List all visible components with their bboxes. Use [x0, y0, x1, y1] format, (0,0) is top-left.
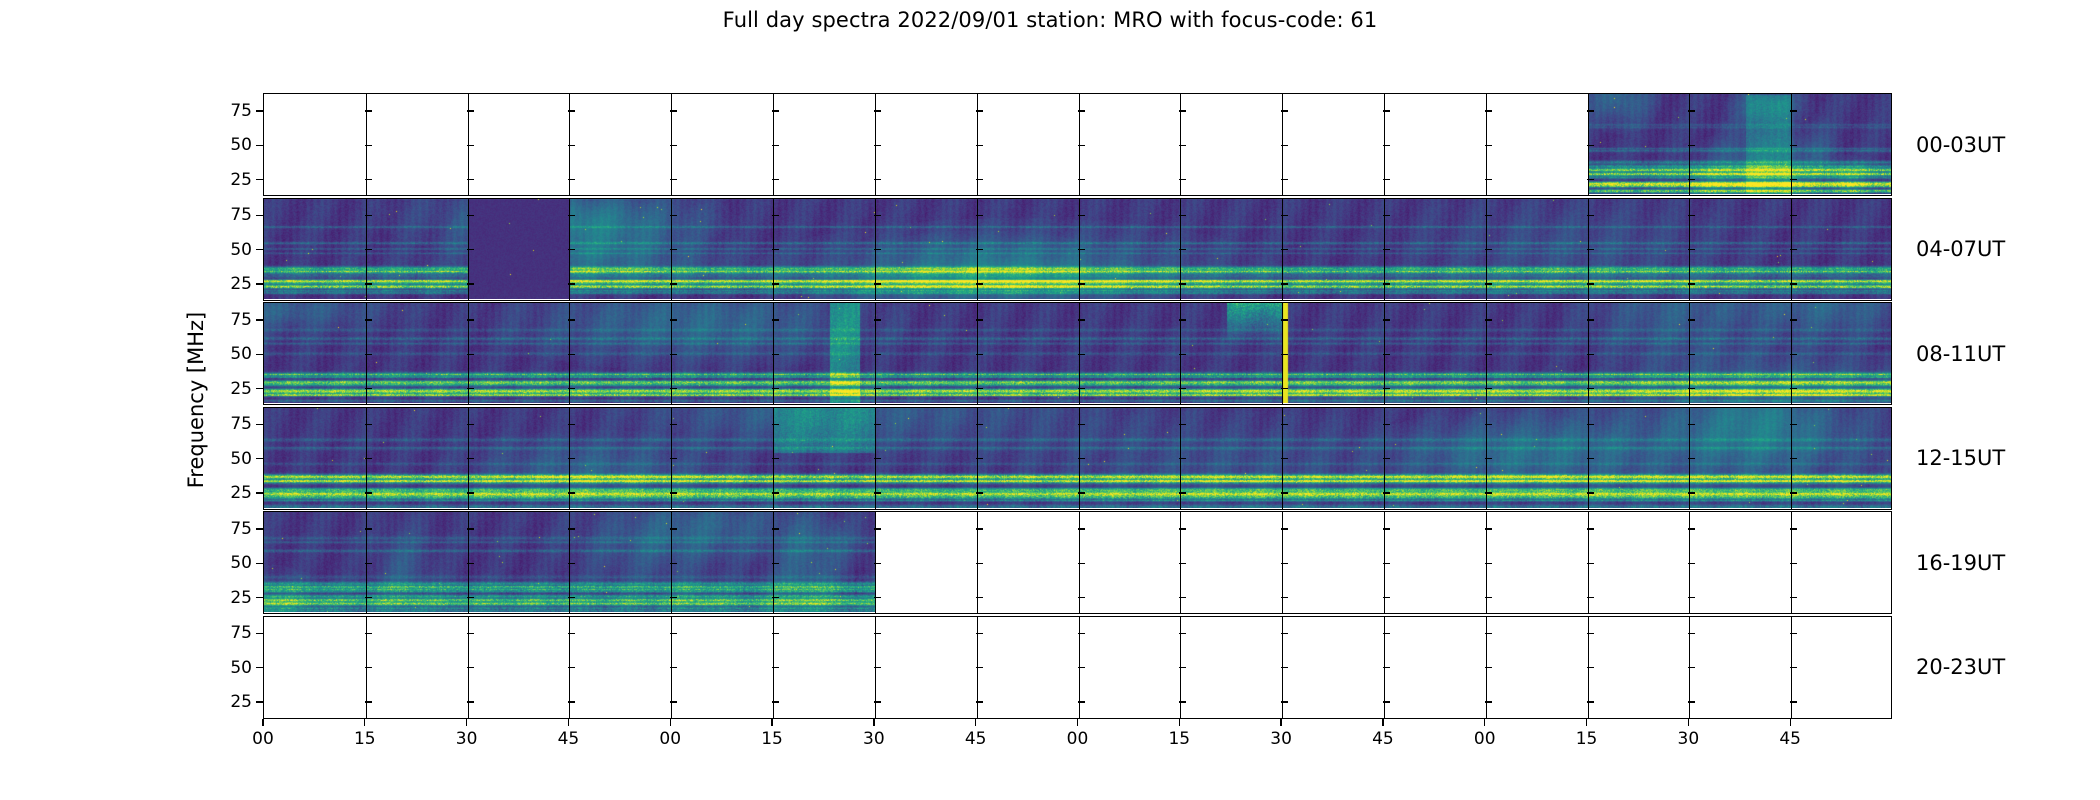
y-tick-mark-inner — [1078, 597, 1085, 598]
y-tick-mark-inner — [670, 492, 677, 493]
y-tick-mark-inner — [874, 701, 881, 702]
y-tick-mark-inner — [1281, 633, 1288, 634]
y-tick-mark-inner — [1179, 215, 1186, 216]
y-tick-mark-inner — [1790, 354, 1797, 355]
y-tick-mark-inner — [1179, 179, 1186, 180]
y-tick-mark-inner — [365, 249, 372, 250]
y-tick-mark-inner — [976, 110, 983, 111]
y-tick-mark-inner — [1485, 667, 1492, 668]
y-tick-mark-inner — [1179, 283, 1186, 284]
y-tick-mark-inner — [1383, 179, 1390, 180]
y-tick-mark-inner — [1078, 110, 1085, 111]
x-tick-label: 30 — [863, 729, 885, 749]
y-tick-mark-inner — [568, 633, 575, 634]
x-tick-mark — [1688, 719, 1689, 726]
y-tick-mark-inner — [568, 492, 575, 493]
y-tick-mark — [256, 492, 263, 493]
y-tick-mark-inner — [365, 283, 372, 284]
x-tick-label: 45 — [558, 729, 580, 749]
y-tick-mark-inner — [772, 319, 779, 320]
y-tick-mark-inner — [1281, 492, 1288, 493]
y-tick-mark-inner — [568, 110, 575, 111]
y-tick-mark-inner — [467, 458, 474, 459]
y-tick-mark-inner — [365, 424, 372, 425]
spectrogram-canvas — [1588, 94, 1892, 194]
y-tick-mark-inner — [467, 492, 474, 493]
y-tick-mark-inner — [874, 249, 881, 250]
y-tick-mark-inner — [1078, 528, 1085, 529]
y-tick-mark-inner — [670, 179, 677, 180]
y-tick-mark-inner — [1078, 492, 1085, 493]
y-tick-mark-inner — [1281, 458, 1288, 459]
y-tick-mark-inner — [670, 388, 677, 389]
y-tick-label: 25 — [230, 588, 252, 608]
y-tick-mark-inner — [1790, 145, 1797, 146]
y-tick-mark-inner — [1688, 597, 1695, 598]
y-tick-mark-inner — [1383, 597, 1390, 598]
y-tick-mark-inner — [1688, 145, 1695, 146]
y-tick-mark-inner — [976, 179, 983, 180]
y-tick-mark-inner — [976, 215, 983, 216]
y-tick-label: 75 — [230, 310, 252, 330]
y-tick-mark-inner — [1587, 283, 1594, 284]
y-tick-mark — [256, 319, 263, 320]
x-tick-label: 15 — [761, 729, 783, 749]
y-tick-mark-inner — [1587, 667, 1594, 668]
y-tick-mark-inner — [976, 667, 983, 668]
y-tick-mark-inner — [1485, 388, 1492, 389]
y-tick-mark-inner — [365, 633, 372, 634]
y-tick-label: 75 — [230, 414, 252, 434]
y-tick-mark-inner — [1281, 110, 1288, 111]
y-tick-mark-inner — [1485, 492, 1492, 493]
y-tick-mark-inner — [1281, 283, 1288, 284]
y-tick-mark-inner — [1179, 145, 1186, 146]
y-tick-label: 25 — [230, 274, 252, 294]
y-tick-mark-inner — [1587, 492, 1594, 493]
y-tick-mark-inner — [467, 667, 474, 668]
y-tick-mark-inner — [568, 283, 575, 284]
y-tick-mark-inner — [670, 145, 677, 146]
y-tick-mark-inner — [1587, 597, 1594, 598]
y-tick-mark-inner — [1281, 354, 1288, 355]
y-tick-mark-inner — [874, 145, 881, 146]
y-tick-mark-inner — [874, 215, 881, 216]
y-tick-mark — [256, 388, 263, 389]
y-tick-mark-inner — [772, 249, 779, 250]
y-tick-label: 75 — [230, 205, 252, 225]
x-tick-mark — [262, 719, 263, 726]
y-tick-mark-inner — [467, 633, 474, 634]
y-tick-mark-inner — [772, 597, 779, 598]
y-tick-mark-inner — [1485, 319, 1492, 320]
y-tick-mark-inner — [1790, 492, 1797, 493]
y-tick-mark-inner — [772, 179, 779, 180]
y-tick-mark-inner — [1485, 215, 1492, 216]
y-tick-mark-inner — [1688, 319, 1695, 320]
x-tick-label: 15 — [354, 729, 376, 749]
x-tick-mark — [1179, 719, 1180, 726]
y-tick-mark-inner — [1688, 492, 1695, 493]
y-tick-mark-inner — [365, 563, 372, 564]
y-tick-mark-inner — [1485, 458, 1492, 459]
y-tick-mark-inner — [874, 424, 881, 425]
y-tick-mark-inner — [1485, 424, 1492, 425]
y-tick-mark-inner — [772, 563, 779, 564]
y-tick-mark-inner — [1281, 563, 1288, 564]
y-tick-mark-inner — [1179, 597, 1186, 598]
y-tick-label: 25 — [230, 692, 252, 712]
y-tick-mark-inner — [568, 597, 575, 598]
y-tick-mark-inner — [1383, 388, 1390, 389]
y-tick-mark-inner — [1587, 354, 1594, 355]
y-tick-mark-inner — [1790, 249, 1797, 250]
y-tick-mark-inner — [568, 319, 575, 320]
y-tick-mark-inner — [1688, 458, 1695, 459]
y-tick-mark-inner — [1281, 388, 1288, 389]
y-tick-mark-inner — [1485, 528, 1492, 529]
y-tick-mark-inner — [772, 633, 779, 634]
y-tick-mark-inner — [1179, 424, 1186, 425]
y-tick-mark-inner — [874, 458, 881, 459]
y-tick-mark-inner — [1383, 110, 1390, 111]
y-tick-mark-inner — [467, 701, 474, 702]
y-tick-mark-inner — [976, 563, 983, 564]
x-tick-mark — [771, 719, 772, 726]
x-tick-label: 30 — [456, 729, 478, 749]
y-tick-mark-inner — [365, 597, 372, 598]
y-tick-mark-inner — [568, 424, 575, 425]
y-tick-mark-inner — [1383, 667, 1390, 668]
x-tick-label: 00 — [659, 729, 681, 749]
y-tick-mark-inner — [365, 528, 372, 529]
y-tick-mark-inner — [976, 249, 983, 250]
y-tick-mark-inner — [772, 667, 779, 668]
y-tick-mark — [256, 249, 263, 250]
y-tick-mark-inner — [670, 667, 677, 668]
spectrogram-figure: Full day spectra 2022/09/01 station: MRO… — [0, 0, 2100, 800]
y-tick-mark-inner — [1179, 633, 1186, 634]
y-tick-mark-inner — [1790, 633, 1797, 634]
y-tick-mark-inner — [1078, 701, 1085, 702]
y-tick-mark — [256, 354, 263, 355]
y-tick-mark-inner — [772, 701, 779, 702]
y-tick-mark-inner — [874, 319, 881, 320]
y-tick-mark — [256, 528, 263, 529]
y-tick-mark-inner — [874, 492, 881, 493]
y-tick-mark — [256, 424, 263, 425]
y-tick-mark-inner — [1587, 215, 1594, 216]
y-tick-mark-inner — [1587, 424, 1594, 425]
y-tick-mark-inner — [1383, 145, 1390, 146]
y-tick-mark-inner — [1688, 424, 1695, 425]
y-tick-mark-inner — [1790, 179, 1797, 180]
y-tick-mark — [256, 633, 263, 634]
y-tick-label: 50 — [230, 135, 252, 155]
page-title: Full day spectra 2022/09/01 station: MRO… — [0, 8, 2100, 32]
y-tick-mark — [256, 667, 263, 668]
y-tick-mark-inner — [1485, 179, 1492, 180]
y-tick-mark-inner — [1688, 528, 1695, 529]
y-tick-mark-inner — [568, 458, 575, 459]
y-tick-mark-inner — [1790, 667, 1797, 668]
y-tick-label: 50 — [230, 553, 252, 573]
y-tick-mark-inner — [1281, 597, 1288, 598]
y-tick-mark-inner — [467, 528, 474, 529]
y-tick-mark-inner — [670, 597, 677, 598]
y-tick-mark-inner — [467, 597, 474, 598]
y-tick-mark-inner — [467, 319, 474, 320]
y-tick-mark-inner — [976, 492, 983, 493]
y-tick-mark-inner — [1790, 528, 1797, 529]
y-tick-mark-inner — [1790, 110, 1797, 111]
y-tick-mark-inner — [365, 179, 372, 180]
y-tick-mark-inner — [874, 283, 881, 284]
y-tick-mark-inner — [670, 354, 677, 355]
x-tick-mark — [1382, 719, 1383, 726]
y-tick-mark-inner — [1587, 319, 1594, 320]
y-tick-label: 25 — [230, 379, 252, 399]
x-tick-mark — [1586, 719, 1587, 726]
x-tick-mark — [568, 719, 569, 726]
y-tick-mark-inner — [365, 215, 372, 216]
y-tick-mark — [256, 701, 263, 702]
y-tick-mark-inner — [1688, 179, 1695, 180]
y-tick-mark-inner — [772, 283, 779, 284]
y-tick-mark-inner — [670, 249, 677, 250]
y-tick-mark-inner — [1281, 145, 1288, 146]
y-tick-mark-inner — [365, 458, 372, 459]
y-tick-mark-inner — [874, 179, 881, 180]
y-tick-mark-inner — [874, 633, 881, 634]
y-tick-mark-inner — [670, 528, 677, 529]
y-tick-label: 25 — [230, 483, 252, 503]
y-tick-mark-inner — [1790, 283, 1797, 284]
y-tick-mark-inner — [1587, 249, 1594, 250]
y-tick-mark-inner — [365, 667, 372, 668]
y-tick-mark — [256, 145, 263, 146]
y-tick-mark-inner — [1790, 215, 1797, 216]
y-tick-mark-inner — [1078, 354, 1085, 355]
y-tick-mark-inner — [365, 354, 372, 355]
y-tick-mark — [256, 283, 263, 284]
y-tick-label: 75 — [230, 101, 252, 121]
y-tick-mark-inner — [1179, 701, 1186, 702]
y-tick-mark-inner — [1485, 701, 1492, 702]
y-tick-mark-inner — [976, 701, 983, 702]
y-tick-mark-inner — [1688, 249, 1695, 250]
y-tick-mark-inner — [1587, 633, 1594, 634]
row-label-08-11ut: 08-11UT — [1916, 342, 2005, 366]
y-tick-mark-inner — [976, 319, 983, 320]
y-tick-mark-inner — [670, 701, 677, 702]
y-tick-mark-inner — [874, 528, 881, 529]
y-tick-mark-inner — [568, 528, 575, 529]
y-tick-mark-inner — [1078, 319, 1085, 320]
y-tick-mark-inner — [1078, 145, 1085, 146]
y-tick-label: 75 — [230, 519, 252, 539]
y-tick-mark — [256, 597, 263, 598]
x-tick-mark — [1790, 719, 1791, 726]
y-tick-mark-inner — [1587, 145, 1594, 146]
x-tick-mark — [1077, 719, 1078, 726]
y-tick-mark-inner — [670, 319, 677, 320]
y-tick-mark-inner — [1281, 215, 1288, 216]
y-tick-mark-inner — [1587, 701, 1594, 702]
y-tick-mark-inner — [874, 354, 881, 355]
x-tick-mark — [975, 719, 976, 726]
x-tick-label: 45 — [965, 729, 987, 749]
y-tick-mark-inner — [1790, 424, 1797, 425]
y-axis-label: Frequency [MHz] — [184, 312, 208, 488]
y-tick-mark-inner — [1790, 597, 1797, 598]
y-tick-mark-inner — [1078, 249, 1085, 250]
y-tick-mark-inner — [568, 701, 575, 702]
y-tick-mark-inner — [1179, 319, 1186, 320]
y-tick-mark-inner — [1383, 492, 1390, 493]
row-label-20-23ut: 20-23UT — [1916, 655, 2005, 679]
y-tick-mark-inner — [1485, 597, 1492, 598]
y-tick-mark-inner — [1281, 319, 1288, 320]
y-tick-mark-inner — [568, 667, 575, 668]
y-tick-mark-inner — [1078, 388, 1085, 389]
y-tick-mark-inner — [1688, 110, 1695, 111]
y-tick-mark-inner — [1790, 701, 1797, 702]
y-tick-label: 75 — [230, 623, 252, 643]
y-tick-mark-inner — [670, 215, 677, 216]
row-label-00-03ut: 00-03UT — [1916, 133, 2005, 157]
y-tick-mark-inner — [976, 424, 983, 425]
y-tick-mark-inner — [1688, 215, 1695, 216]
y-tick-mark-inner — [1383, 354, 1390, 355]
x-tick-label: 00 — [252, 729, 274, 749]
y-tick-mark-inner — [1179, 667, 1186, 668]
y-tick-label: 50 — [230, 240, 252, 260]
y-tick-mark-inner — [1078, 667, 1085, 668]
y-tick-mark-inner — [874, 388, 881, 389]
y-tick-mark-inner — [874, 563, 881, 564]
y-tick-mark-inner — [1383, 249, 1390, 250]
y-tick-mark-inner — [568, 249, 575, 250]
y-tick-mark-inner — [1688, 633, 1695, 634]
y-tick-mark-inner — [670, 283, 677, 284]
y-tick-mark-inner — [1179, 388, 1186, 389]
y-tick-mark-inner — [874, 110, 881, 111]
y-tick-mark-inner — [1790, 458, 1797, 459]
y-tick-mark-inner — [467, 424, 474, 425]
y-tick-mark-inner — [772, 354, 779, 355]
y-tick-mark-inner — [568, 145, 575, 146]
x-tick-mark — [466, 719, 467, 726]
y-tick-mark-inner — [1485, 145, 1492, 146]
y-tick-mark-inner — [1078, 283, 1085, 284]
y-tick-mark-inner — [1179, 354, 1186, 355]
x-tick-mark — [1280, 719, 1281, 726]
y-tick-mark-inner — [568, 215, 575, 216]
y-tick-mark-inner — [976, 145, 983, 146]
y-tick-mark-inner — [1688, 354, 1695, 355]
row-label-04-07ut: 04-07UT — [1916, 237, 2005, 261]
x-tick-label: 30 — [1678, 729, 1700, 749]
y-tick-mark-inner — [1383, 701, 1390, 702]
y-tick-mark-inner — [1790, 388, 1797, 389]
y-tick-label: 50 — [230, 449, 252, 469]
y-tick-mark-inner — [1485, 249, 1492, 250]
x-tick-label: 00 — [1067, 729, 1089, 749]
x-tick-mark — [873, 719, 874, 726]
y-tick-mark-inner — [1078, 563, 1085, 564]
y-tick-mark-inner — [1587, 563, 1594, 564]
y-tick-mark-inner — [772, 424, 779, 425]
y-tick-mark-inner — [568, 563, 575, 564]
y-tick-mark-inner — [1179, 110, 1186, 111]
y-tick-mark-inner — [1485, 110, 1492, 111]
y-tick-mark-inner — [1688, 388, 1695, 389]
y-tick-mark-inner — [1281, 179, 1288, 180]
y-tick-mark — [256, 179, 263, 180]
y-tick-mark-inner — [1383, 424, 1390, 425]
y-tick-mark-inner — [1587, 179, 1594, 180]
x-tick-mark — [364, 719, 365, 726]
y-tick-mark-inner — [1078, 215, 1085, 216]
y-tick-mark-inner — [1281, 249, 1288, 250]
y-tick-mark-inner — [1485, 354, 1492, 355]
y-tick-mark-inner — [976, 633, 983, 634]
x-tick-label: 45 — [1779, 729, 1801, 749]
y-tick-mark-inner — [467, 563, 474, 564]
y-tick-mark-inner — [467, 249, 474, 250]
y-tick-mark-inner — [976, 354, 983, 355]
y-tick-mark-inner — [772, 215, 779, 216]
y-tick-mark-inner — [1281, 667, 1288, 668]
y-tick-mark-inner — [365, 145, 372, 146]
y-tick-mark-inner — [1179, 492, 1186, 493]
y-tick-mark-inner — [772, 492, 779, 493]
y-tick-mark-inner — [1587, 458, 1594, 459]
row-label-12-15ut: 12-15UT — [1916, 446, 2005, 470]
y-tick-mark-inner — [670, 110, 677, 111]
y-tick-mark-inner — [467, 179, 474, 180]
y-tick-mark-inner — [670, 424, 677, 425]
y-tick-mark-inner — [1078, 179, 1085, 180]
y-tick-label: 50 — [230, 344, 252, 364]
y-tick-mark-inner — [568, 354, 575, 355]
y-tick-mark-inner — [1485, 283, 1492, 284]
y-tick-mark-inner — [1688, 563, 1695, 564]
y-tick-mark-inner — [976, 458, 983, 459]
y-tick-mark-inner — [670, 563, 677, 564]
y-tick-mark — [256, 458, 263, 459]
x-tick-label: 00 — [1474, 729, 1496, 749]
y-tick-mark-inner — [772, 145, 779, 146]
y-tick-mark-inner — [1078, 458, 1085, 459]
y-tick-mark-inner — [1281, 701, 1288, 702]
y-tick-mark-inner — [1587, 388, 1594, 389]
y-tick-mark-inner — [976, 528, 983, 529]
y-tick-mark-inner — [670, 458, 677, 459]
x-tick-label: 45 — [1372, 729, 1394, 749]
y-tick-mark — [256, 110, 263, 111]
y-tick-mark-inner — [467, 110, 474, 111]
y-tick-mark-inner — [365, 319, 372, 320]
y-tick-mark-inner — [976, 388, 983, 389]
x-tick-label: 15 — [1168, 729, 1190, 749]
y-tick-mark-inner — [1688, 283, 1695, 284]
y-tick-mark-inner — [1179, 528, 1186, 529]
row-label-16-19ut: 16-19UT — [1916, 551, 2005, 575]
x-tick-mark — [1484, 719, 1485, 726]
x-tick-label: 30 — [1270, 729, 1292, 749]
